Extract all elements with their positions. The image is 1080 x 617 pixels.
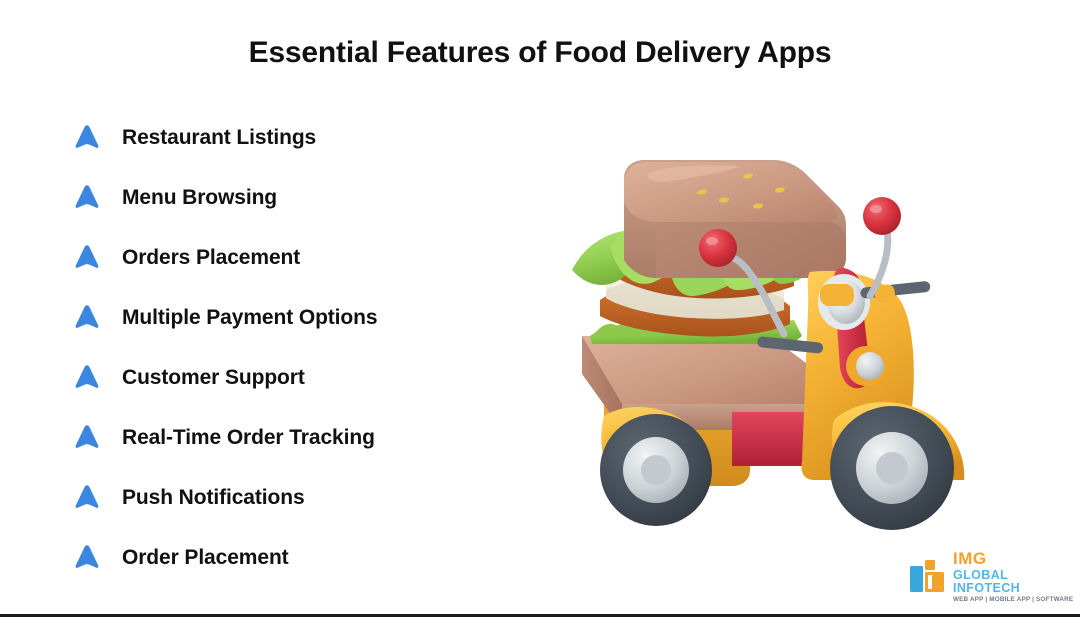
logo-sub-brand: GLOBAL INFOTECH — [953, 569, 1073, 594]
list-item[interactable]: Order Placement — [70, 528, 550, 588]
list-item-label: Customer Support — [122, 366, 305, 390]
list-item-label: Menu Browsing — [122, 186, 277, 210]
slide-canvas: Essential Features of Food Delivery Apps… — [0, 0, 1080, 617]
list-item[interactable]: Restaurant Listings — [70, 108, 550, 168]
front-wheel — [830, 406, 954, 530]
triangle-arrow-icon — [70, 481, 104, 515]
logo-brand: IMG — [953, 550, 1073, 567]
logo-tagline: WEB APP | MOBILE APP | SOFTWARE — [953, 597, 1073, 603]
list-item[interactable]: Multiple Payment Options — [70, 288, 550, 348]
page-title: Essential Features of Food Delivery Apps — [0, 36, 1080, 70]
list-item[interactable]: Customer Support — [70, 348, 550, 408]
triangle-arrow-icon — [70, 301, 104, 335]
delivery-scooter-burger-illustration — [552, 120, 972, 530]
list-item[interactable]: Real-Time Order Tracking — [70, 408, 550, 468]
logo-mark-icon — [908, 558, 946, 596]
list-item-label: Real-Time Order Tracking — [122, 426, 375, 450]
triangle-arrow-icon — [70, 361, 104, 395]
img-global-infotech-logo[interactable]: IMG GLOBAL INFOTECH WEB APP | MOBILE APP… — [908, 552, 1058, 602]
list-item-label: Push Notifications — [122, 486, 305, 510]
list-item-label: Order Placement — [122, 546, 289, 570]
list-item[interactable]: Menu Browsing — [70, 168, 550, 228]
triangle-arrow-icon — [70, 541, 104, 575]
triangle-arrow-icon — [70, 241, 104, 275]
triangle-arrow-icon — [70, 181, 104, 215]
side-knob — [846, 346, 886, 386]
triangle-arrow-icon — [70, 121, 104, 155]
list-item-label: Restaurant Listings — [122, 126, 316, 150]
feature-list: Restaurant Listings Menu Browsing Orders… — [70, 108, 550, 588]
list-item-label: Multiple Payment Options — [122, 306, 377, 330]
list-item[interactable]: Push Notifications — [70, 468, 550, 528]
rear-wheel — [600, 414, 712, 526]
list-item[interactable]: Orders Placement — [70, 228, 550, 288]
list-item-label: Orders Placement — [122, 246, 300, 270]
logo-text-block: IMG GLOBAL INFOTECH WEB APP | MOBILE APP… — [953, 550, 1073, 603]
triangle-arrow-icon — [70, 421, 104, 455]
